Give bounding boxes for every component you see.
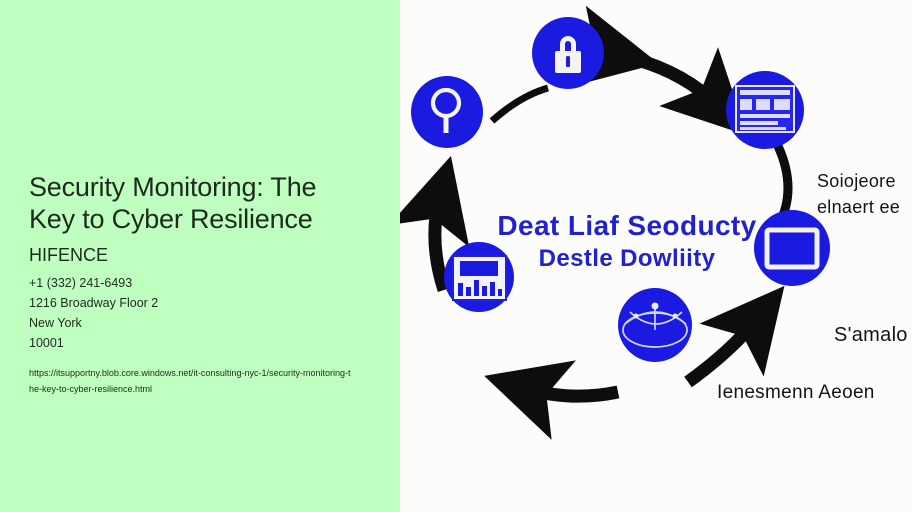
node-search-circle[interactable]	[411, 76, 483, 148]
brand-name: HIFENCE	[29, 244, 374, 267]
contact-city: New York	[29, 313, 374, 333]
center-headline-line-2: Destle Dowliity	[462, 244, 792, 275]
node-network[interactable]	[618, 288, 692, 362]
page-title: Security Monitoring: The Key to Cyber Re…	[29, 172, 329, 235]
left-info-panel: Security Monitoring: The Key to Cyber Re…	[0, 0, 400, 512]
contact-phone: +1 (332) 241-6493	[29, 273, 374, 293]
contact-zip: 10001	[29, 333, 374, 353]
left-panel-content: Security Monitoring: The Key to Cyber Re…	[29, 172, 374, 398]
node-search[interactable]	[411, 76, 483, 148]
arrow-dashboard-to-search	[435, 196, 444, 290]
node-label-monitor: S'amalo	[834, 324, 908, 347]
arrow-network-to-monitor	[688, 318, 758, 382]
poster-canvas: Security Monitoring: The Key to Cyber Re…	[0, 0, 912, 512]
arrow-search-to-lock	[492, 88, 548, 121]
node-label-network: Ienesmenn Aeoen	[717, 382, 875, 404]
source-url[interactable]: https://itsupportny.blob.core.windows.ne…	[29, 365, 355, 398]
node-lock[interactable]	[532, 17, 604, 89]
node-document[interactable]	[726, 71, 804, 149]
contact-address: 1216 Broadway Floor 2	[29, 293, 374, 313]
diagram-center-text: Deat Liaf Seoducty Destle Dowliity	[462, 208, 792, 275]
arrow-network-to-dashboard	[524, 388, 618, 396]
center-headline-line-1: Deat Liaf Seoducty	[462, 208, 792, 244]
diagram-panel: Deat Liaf Seoducty Destle Dowliity Soioj…	[400, 0, 912, 512]
node-label-document: Soiojeore elnaert ee	[817, 168, 912, 220]
document-list-icon	[736, 86, 794, 132]
arrow-lock-document	[618, 55, 718, 106]
